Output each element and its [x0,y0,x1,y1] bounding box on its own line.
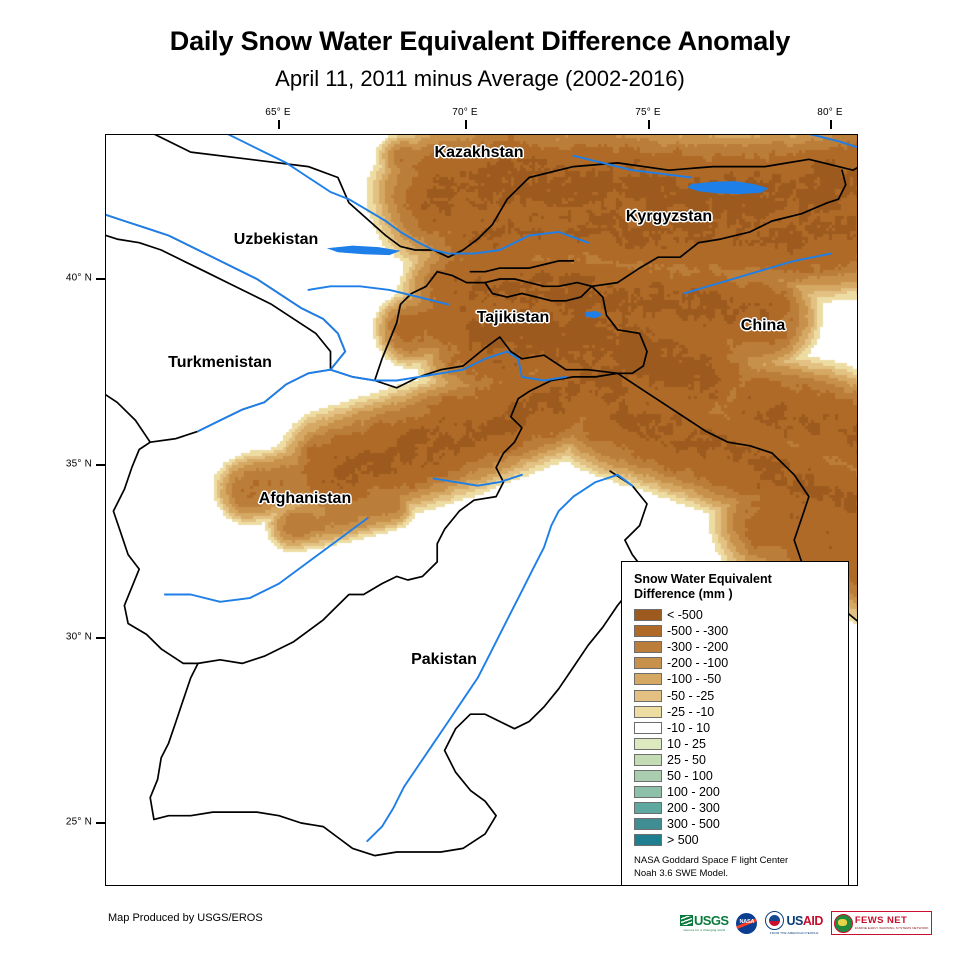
legend-label: < -500 [667,609,703,621]
tick-lon-2 [648,120,650,129]
usgs-logo: USGS science for a changing world [680,910,728,936]
legend-swatch [634,690,662,702]
tick-lon-0 [278,120,280,129]
legend-title-line2: Difference (mm ) [634,587,834,602]
usgs-wordmark: USGS [694,915,728,927]
legend-row: -50 - -25 [634,687,848,703]
river-line [367,475,632,841]
river-line [434,475,522,486]
legend-swatch [634,802,662,814]
border-line [150,663,198,819]
tick-lat-1 [96,464,105,466]
legend-label: 50 - 100 [667,770,713,782]
lake-shape [688,181,769,194]
legend-swatch [634,625,662,637]
border-line [154,471,647,855]
nasa-wordmark: NASA [739,919,754,925]
legend-note-line1: NASA Goddard Space F light Center [634,855,839,868]
river-line [809,135,858,148]
usgs-wave-icon [680,915,693,926]
legend-row: > 500 [634,832,848,848]
tick-lon-3 [830,120,832,129]
legend-row: 300 - 500 [634,816,848,832]
label-lon-2: 75° E [635,107,661,118]
legend-row: 100 - 200 [634,784,848,800]
legend-label: 200 - 300 [667,802,720,814]
legend-swatch [634,641,662,653]
legend-label: -300 - -200 [667,641,728,653]
nasa-logo: NASA [736,910,757,936]
legend-swatch [634,657,662,669]
legend-row: -100 - -50 [634,671,848,687]
legend-label: -100 - -50 [667,673,721,685]
lakes [327,181,769,318]
legend-row: -300 - -200 [634,639,848,655]
border-line [592,286,647,373]
usaid-seal-icon [765,911,784,930]
tick-lat-0 [96,278,105,280]
fewsnet-logo: FEWS NET FAMINE EARLY WARNING SYSTEMS NE… [831,911,932,935]
legend-swatch [634,770,662,782]
legend-label: -500 - -300 [667,625,728,637]
border-line [106,207,345,370]
legend-label: 10 - 25 [667,738,706,750]
legend-note-line2: Noah 3.6 SWE Model. [634,868,839,881]
legend-row: 50 - 100 [634,768,848,784]
river-line [198,352,507,432]
legend-row: < -500 [634,607,848,623]
legend-swatch [634,834,662,846]
border-line [106,135,858,257]
legend-label: > 500 [667,834,699,846]
legend-label: 100 - 200 [667,786,720,798]
legend-label: -200 - -100 [667,657,728,669]
legend-row: -200 - -100 [634,655,848,671]
legend-row: 200 - 300 [634,800,848,816]
page-title: Daily Snow Water Equivalent Difference A… [0,26,960,57]
usgs-tagline: science for a changing world [683,928,725,932]
label-lat-0: 40° N [56,273,92,284]
usaid-logo: USAID FROM THE AMERICAN PEOPLE [765,910,822,936]
legend-title-line1: Snow Water Equivalent [634,572,834,587]
usaid-tagline: FROM THE AMERICAN PEOPLE [770,931,819,935]
legend-swatch [634,738,662,750]
nasa-meatball-icon: NASA [736,913,757,934]
legend-panel: Snow Water Equivalent Difference (mm ) <… [621,561,849,886]
label-lat-1: 35° N [56,459,92,470]
legend-swatch [634,722,662,734]
legend-row: 10 - 25 [634,736,848,752]
river-line [165,518,367,601]
map-credit: Map Produced by USGS/EROS [108,912,263,924]
legend-swatch [634,818,662,830]
label-lat-2: 30° N [56,632,92,643]
border-line [470,261,573,272]
fewsnet-tagline: FAMINE EARLY WARNING SYSTEMS NETWORK [855,926,929,930]
legend-label: -10 - 10 [667,722,710,734]
legend-swatch [634,786,662,798]
label-lon-0: 65° E [265,107,291,118]
legend-row: 25 - 50 [634,752,848,768]
river-line [308,286,448,304]
border-line [437,272,592,287]
border-line [106,344,150,442]
legend-label: 25 - 50 [667,754,706,766]
label-lon-3: 80° E [817,107,843,118]
legend-source-note: NASA Goddard Space F light Center Noah 3… [634,855,839,880]
border-line [106,232,331,370]
legend-row: -10 - 10 [634,720,848,736]
lake-shape [584,311,602,318]
tick-lon-1 [465,120,467,129]
fewsnet-globe-icon [834,914,853,933]
lake-shape [327,246,401,256]
usaid-wordmark: USAID [786,915,822,927]
label-lon-1: 70° E [452,107,478,118]
legend-swatch [634,706,662,718]
legend-class-list: < -500-500 - -300-300 - -200-200 - -100-… [634,607,848,848]
border-line [113,337,617,663]
tick-lat-3 [96,822,105,824]
river-line [573,156,691,178]
legend-label: -25 - -10 [667,706,714,718]
agency-logos: USGS science for a changing world NASA U… [680,908,932,938]
legend-label: 300 - 500 [667,818,720,830]
legend-title: Snow Water Equivalent Difference (mm ) [634,572,834,602]
legend-swatch [634,754,662,766]
legend-swatch [634,609,662,621]
river-line [106,156,345,370]
border-line [375,272,438,381]
legend-label: -50 - -25 [667,690,714,702]
river-line [684,254,831,294]
page-subtitle: April 11, 2011 minus Average (2002-2016) [0,66,960,92]
legend-row: -25 - -10 [634,704,848,720]
legend-swatch [634,673,662,685]
fewsnet-wordmark: FEWS NET [855,916,929,926]
label-lat-3: 25° N [56,817,92,828]
legend-row: -500 - -300 [634,623,848,639]
tick-lat-2 [96,637,105,639]
